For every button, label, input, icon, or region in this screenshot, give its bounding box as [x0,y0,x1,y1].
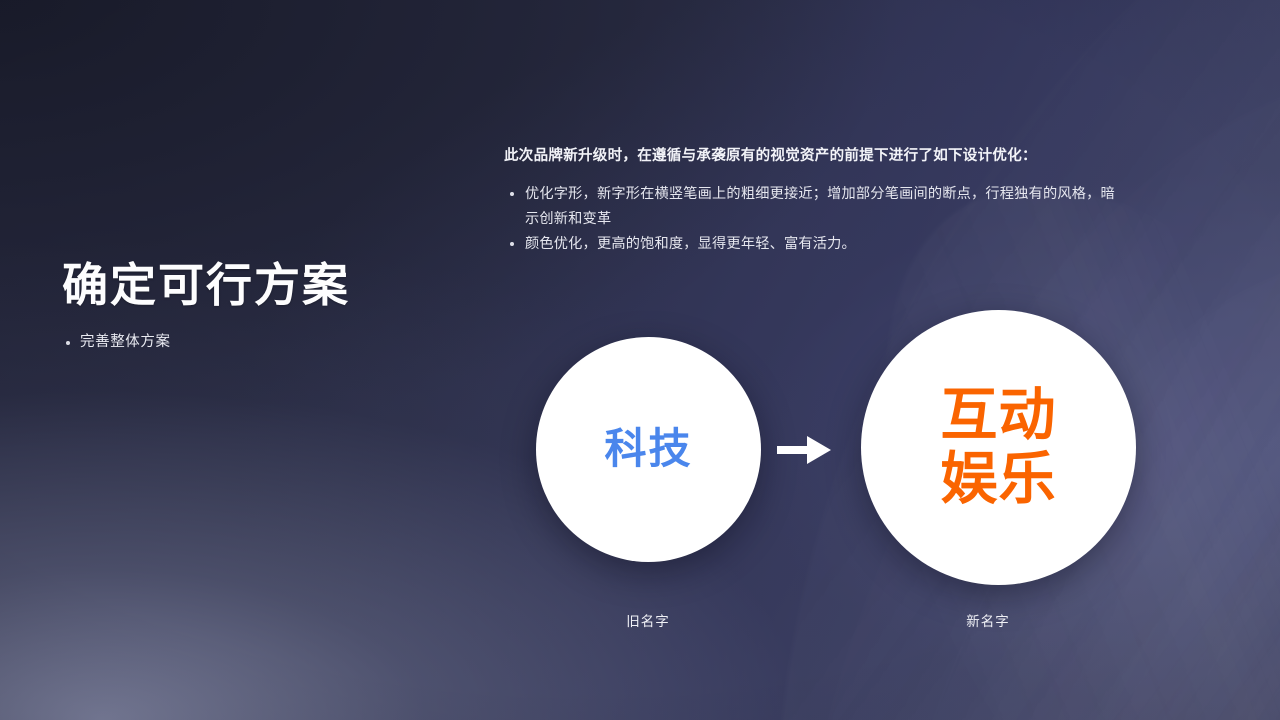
old-brand-caption: 旧名字 [568,610,728,630]
arrow-right-icon [775,432,835,468]
old-brand-circle: 科技 [536,337,761,562]
slide-canvas: 确定可行方案 完善整体方案 此次品牌新升级时，在遵循与承袭原有的视觉资产的前提下… [0,0,1280,720]
old-brand-name: 科技 [604,426,692,472]
new-brand-circle: 互动 娱乐 [861,310,1136,585]
brand-transition-diagram: 科技 互动 娱乐 旧名字 新名字 [0,0,1280,720]
new-brand-name: 互动 娱乐 [941,384,1057,512]
new-brand-caption: 新名字 [908,610,1068,630]
